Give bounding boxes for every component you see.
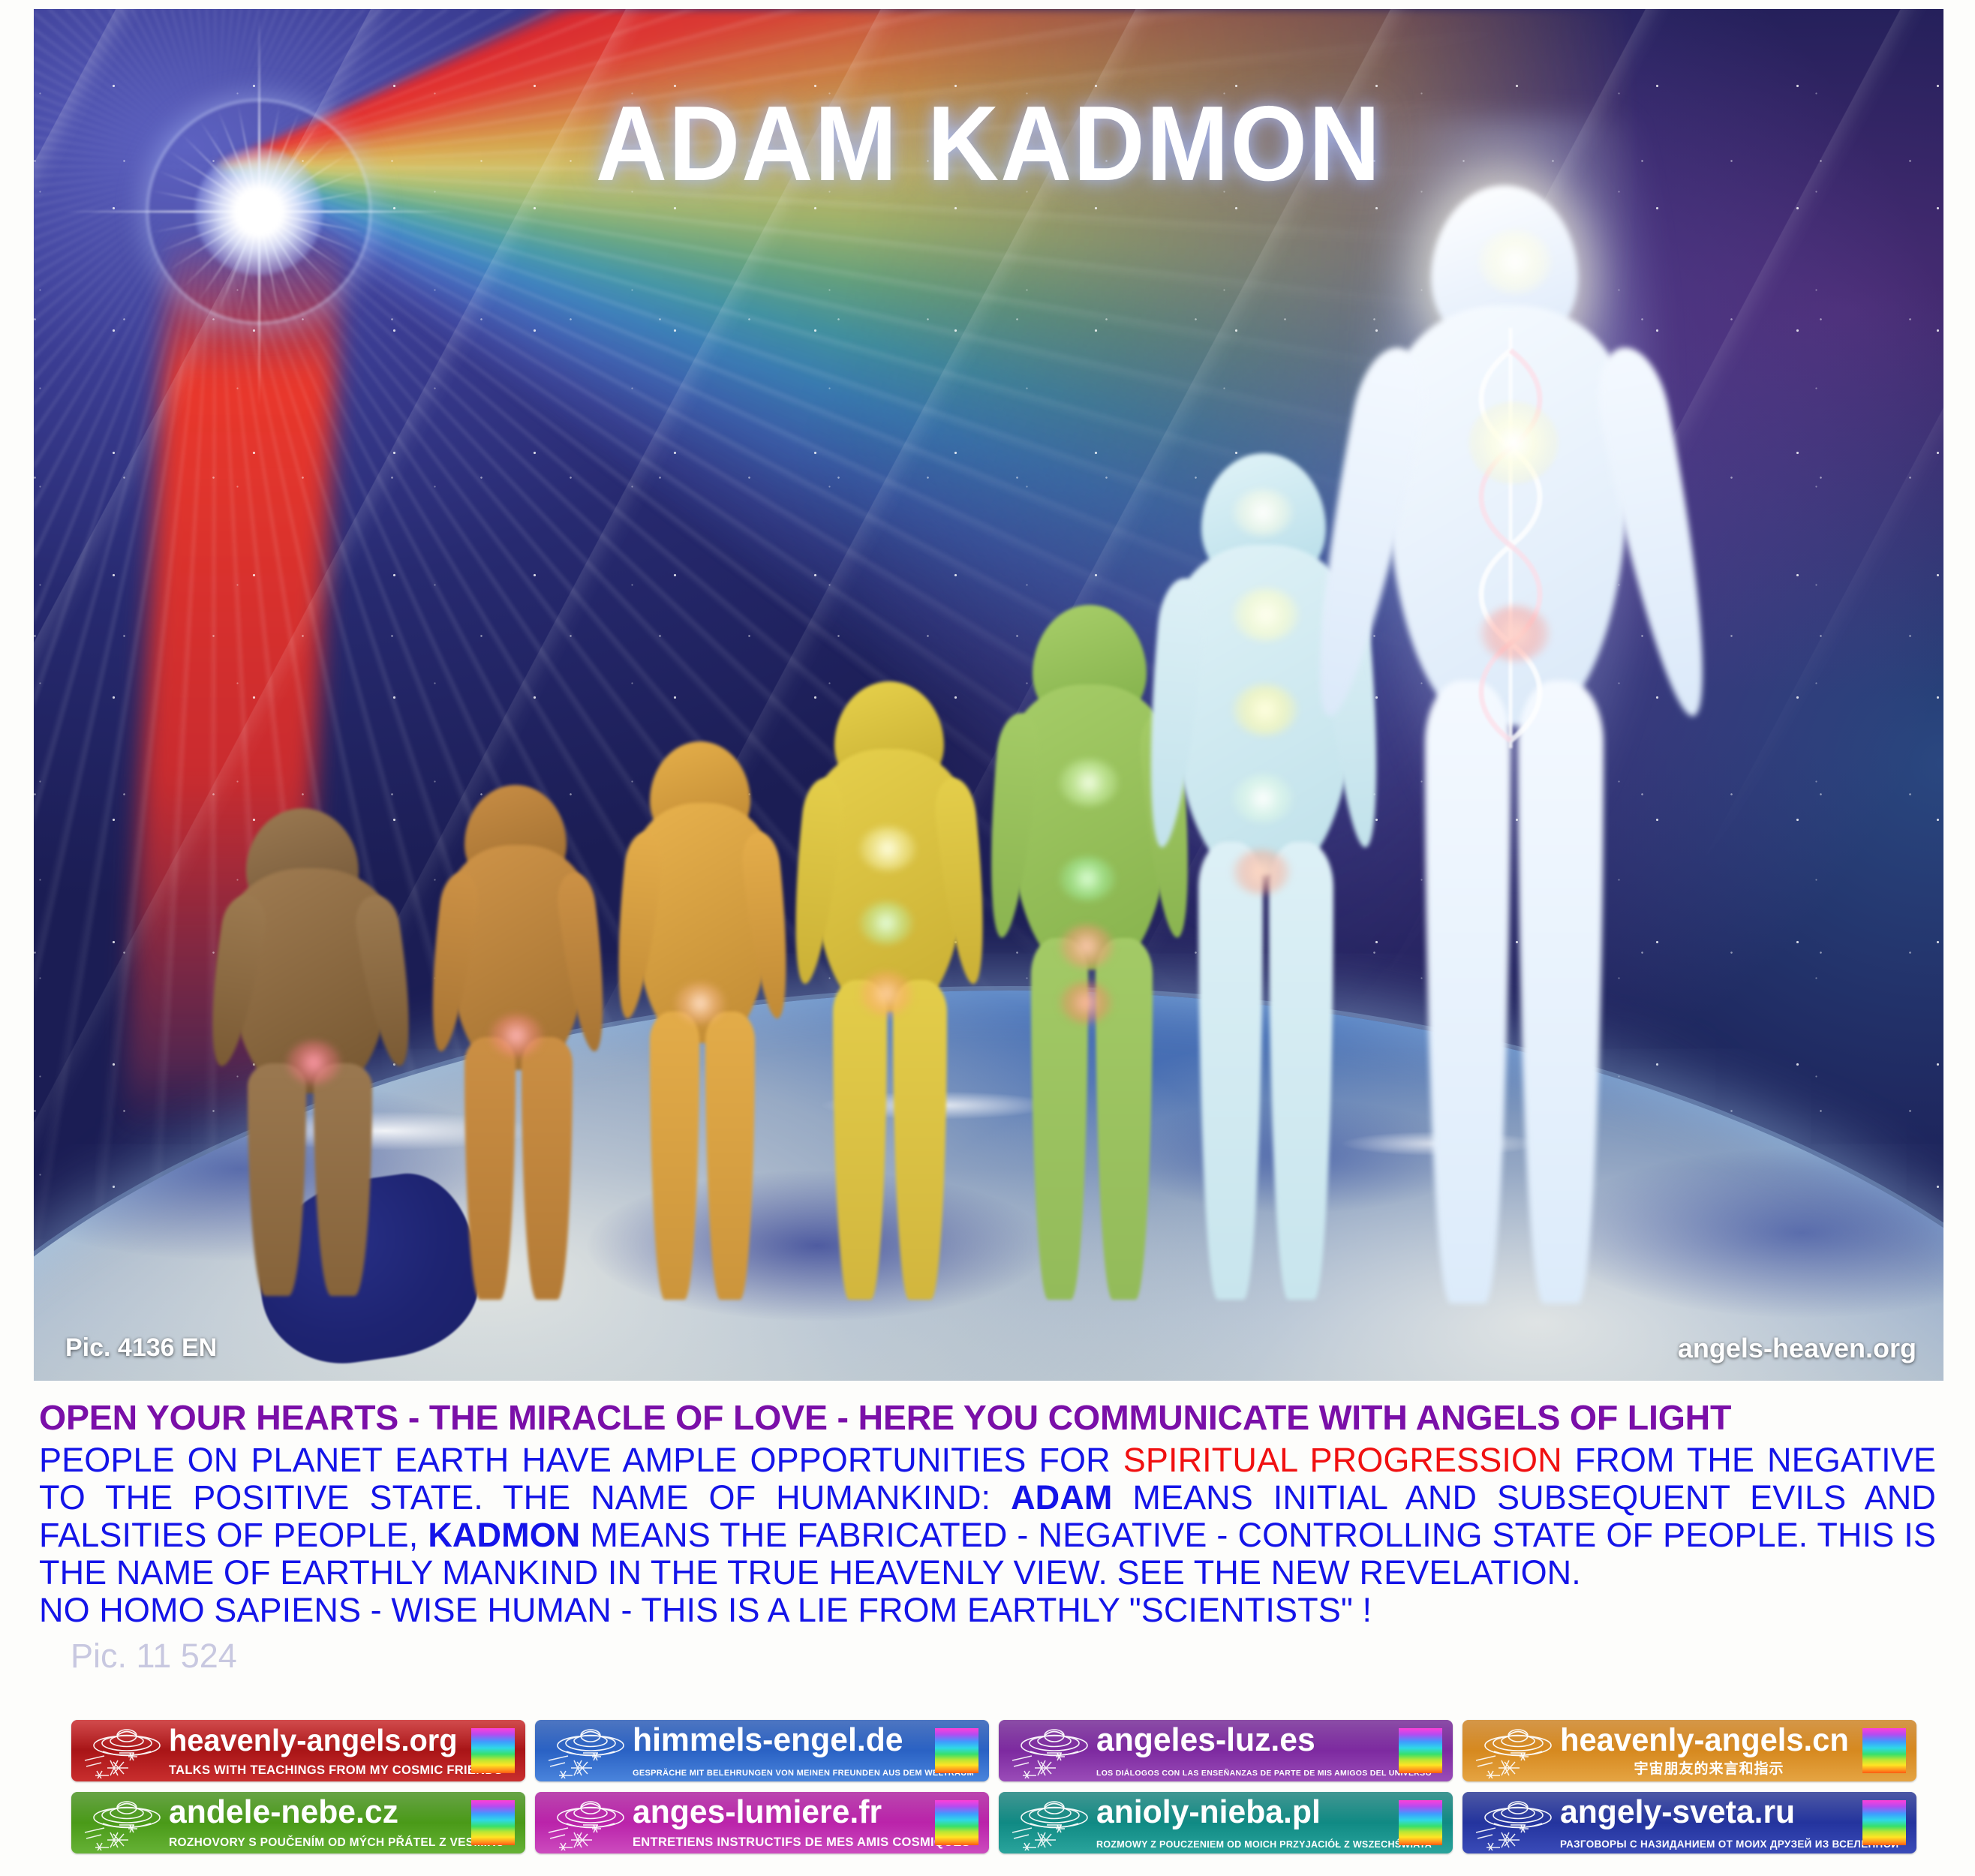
- banner-tagline-heavenly-angels.org: TALKS WITH TEACHINGS FROM MY COSMIC FRIE…: [169, 1763, 467, 1778]
- language-banner-himmels-engel.de[interactable]: himmels-engel.de GESPRÄCHE MIT BELEHRUNG…: [535, 1720, 989, 1781]
- language-banner-heavenly-angels.org[interactable]: heavenly-angels.org TALKS WITH TEACHINGS…: [71, 1720, 525, 1781]
- body-text: PEOPLE ON PLANET EARTH HAVE AMPLE OPPORT…: [39, 1442, 1936, 1629]
- ufo-icon: [1471, 1795, 1565, 1850]
- banner-text-group: heavenly-angels.cn 宇宙朋友的来言和指示: [1560, 1720, 1858, 1781]
- picture-number-label: Pic. 11 524: [71, 1637, 1936, 1676]
- banner-tagline-andele-nebe.cz: ROZHOVORY S POUČENÍM OD MÝCH PŘÁTEL Z VE…: [169, 1836, 467, 1850]
- ufo-icon: [544, 1795, 638, 1850]
- language-banner-angely-sveta.ru[interactable]: angely-sveta.ru РАЗГОВОРЫ С НАЗИДАНИЕМ О…: [1462, 1792, 1916, 1853]
- figure-1-brown: [218, 816, 405, 1296]
- banner-text-group: angeles-luz.es LOS DIÁLOGOS CON LAS ENSE…: [1096, 1720, 1394, 1781]
- banner-domain-angely-sveta.ru: angely-sveta.ru: [1560, 1794, 1849, 1830]
- banner-text-group: anges-lumiere.fr ENTRETIENS INSTRUCTIFS …: [633, 1792, 930, 1853]
- banner-domain-heavenly-angels.org: heavenly-angels.org: [169, 1722, 458, 1758]
- banner-tagline-anges-lumiere.fr: ENTRETIENS INSTRUCTIFS DE MES AMIS COSMI…: [633, 1835, 930, 1850]
- picture-id-caption: Pic. 4136 EN: [65, 1333, 217, 1363]
- highlight-spiritual-progression: SPIRITUAL PROGRESSION: [1123, 1441, 1562, 1479]
- figure-3-orange: [615, 744, 788, 1300]
- banner-tagline-himmels-engel.de: GESPRÄCHE MIT BELEHRUNGEN VON MEINEN FRE…: [633, 1769, 930, 1778]
- bold-kadmon: KADMON: [428, 1516, 580, 1554]
- rainbow-swatch: [471, 1728, 515, 1773]
- figure-7-white-light: [1354, 185, 1670, 1303]
- ufo-icon: [544, 1723, 638, 1778]
- body-seg-1: PEOPLE ON PLANET EARTH HAVE AMPLE OPPORT…: [39, 1441, 1123, 1479]
- rainbow-swatch: [935, 1800, 978, 1845]
- banner-text-group: himmels-engel.de GESPRÄCHE MIT BELEHRUNG…: [633, 1720, 930, 1781]
- rainbow-swatch: [935, 1728, 978, 1773]
- ufo-icon: [80, 1795, 174, 1850]
- ufo-icon: [1008, 1795, 1102, 1850]
- language-banner-anioly-nieba.pl[interactable]: anioly-nieba.pl ROZMOWY Z POUCZENIEM OD …: [999, 1792, 1453, 1853]
- bold-adam: ADAM: [1011, 1478, 1112, 1517]
- language-banner-anges-lumiere.fr[interactable]: anges-lumiere.fr ENTRETIENS INSTRUCTIFS …: [535, 1792, 989, 1853]
- caduceus-spiral-icon: [1465, 328, 1556, 748]
- banner-tagline-anioly-nieba.pl: ROZMOWY Z POUCZENIEM OD MOICH PRZYJACIÓŁ…: [1096, 1839, 1394, 1850]
- banner-domain-heavenly-angels.cn: heavenly-angels.cn: [1560, 1722, 1849, 1758]
- banner-domain-angeles-luz.es: angeles-luz.es: [1096, 1722, 1385, 1758]
- language-banner-andele-nebe.cz[interactable]: andele-nebe.cz ROZHOVORY S POUČENÍM OD M…: [71, 1792, 525, 1853]
- banner-text-group: anioly-nieba.pl ROZMOWY Z POUCZENIEM OD …: [1096, 1792, 1394, 1853]
- banner-text-group: angely-sveta.ru РАЗГОВОРЫ С НАЗИДАНИЕМ О…: [1560, 1792, 1858, 1853]
- rainbow-swatch: [1399, 1728, 1442, 1773]
- banner-tagline-heavenly-angels.cn: 宇宙朋友的来言和指示: [1560, 1757, 1858, 1778]
- language-banner-angeles-luz.es[interactable]: angeles-luz.es LOS DIÁLOGOS CON LAS ENSE…: [999, 1720, 1453, 1781]
- ufo-icon: [80, 1723, 174, 1778]
- banner-text-group: heavenly-angels.org TALKS WITH TEACHINGS…: [169, 1720, 467, 1781]
- caption-text-block: OPEN YOUR HEARTS - THE MIRACLE OF LOVE -…: [0, 1397, 1975, 1676]
- banner-domain-andele-nebe.cz: andele-nebe.cz: [169, 1794, 458, 1830]
- banner-domain-himmels-engel.de: himmels-engel.de: [633, 1722, 921, 1758]
- figure-4-yellow: [795, 684, 983, 1300]
- ufo-icon: [1008, 1723, 1102, 1778]
- banner-domain-anges-lumiere.fr: anges-lumiere.fr: [633, 1794, 921, 1830]
- rainbow-swatch: [471, 1800, 515, 1845]
- banner-text-group: andele-nebe.cz ROZHOVORY S POUČENÍM OD M…: [169, 1792, 467, 1853]
- rainbow-swatch: [1862, 1728, 1906, 1773]
- banner-domain-anioly-nieba.pl: anioly-nieba.pl: [1096, 1794, 1385, 1830]
- figure-2-brown-orange: [431, 789, 604, 1300]
- page-title: ADAM KADMON: [101, 83, 1877, 206]
- ufo-icon: [1471, 1723, 1565, 1778]
- body-paragraph-1: PEOPLE ON PLANET EARTH HAVE AMPLE OPPORT…: [39, 1442, 1936, 1592]
- language-banner-heavenly-angels.cn[interactable]: heavenly-angels.cn 宇宙朋友的来言和指示: [1462, 1720, 1916, 1781]
- rainbow-swatch: [1399, 1800, 1442, 1845]
- artwork-image: ADAM KADMON Pic. 4136 EN angels-heaven.o…: [34, 9, 1943, 1381]
- headline-text: OPEN YOUR HEARTS - THE MIRACLE OF LOVE -…: [39, 1397, 1936, 1438]
- banner-tagline-angeles-luz.es: LOS DIÁLOGOS CON LAS ENSEÑANZAS DE PARTE…: [1096, 1769, 1394, 1778]
- language-banner-grid: heavenly-angels.org TALKS WITH TEACHINGS…: [0, 1720, 1975, 1853]
- banner-tagline-angely-sveta.ru: РАЗГОВОРЫ С НАЗИДАНИЕМ ОТ МОИХ ДРУЗЕЙ ИЗ…: [1560, 1838, 1858, 1850]
- rainbow-swatch: [1862, 1800, 1906, 1845]
- body-paragraph-2: NO HOMO SAPIENS - WISE HUMAN - THIS IS A…: [39, 1592, 1936, 1629]
- site-watermark: angels-heaven.org: [1678, 1333, 1916, 1364]
